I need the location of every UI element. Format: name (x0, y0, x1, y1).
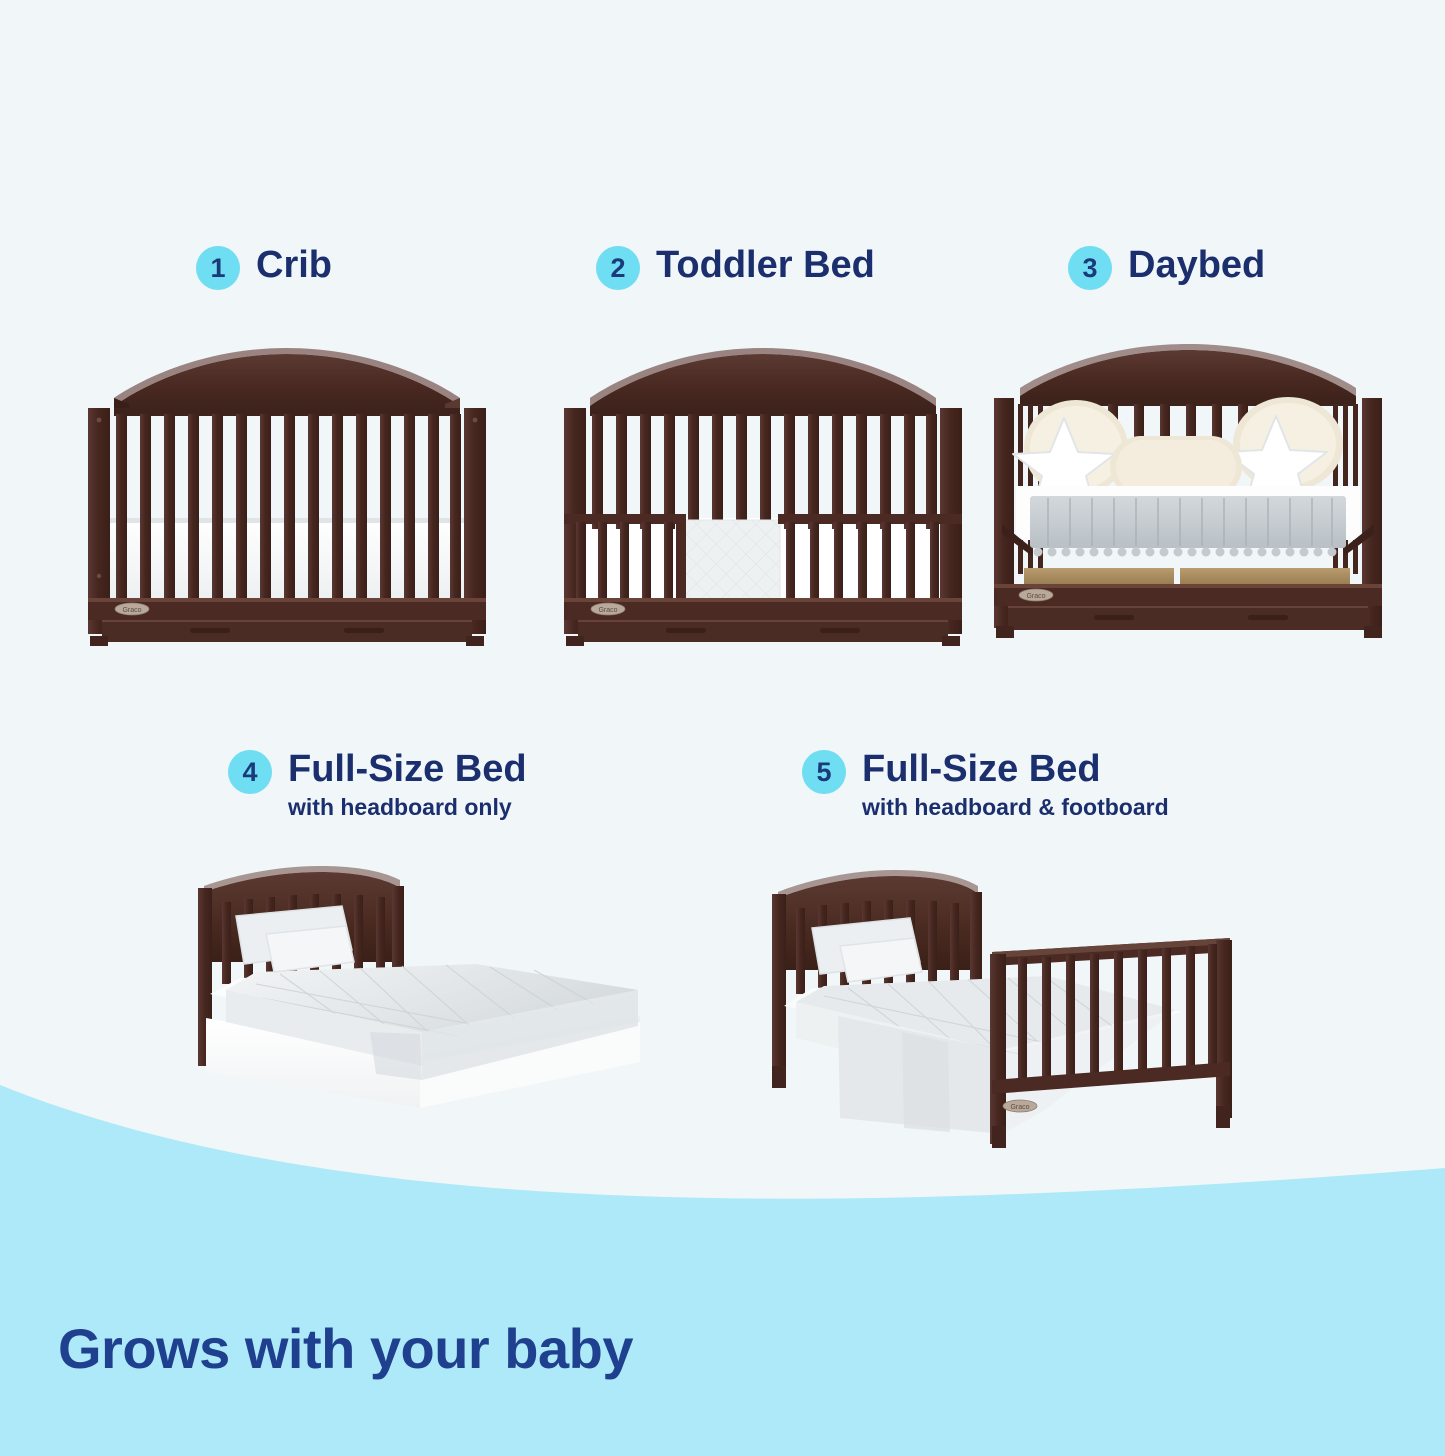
step-header-4: 4 Full-Size Bed with headboard only (228, 750, 527, 821)
step-title-1: Crib (256, 246, 332, 284)
brand-logo-text: Graco (598, 607, 617, 614)
step-header-3: 3 Daybed (1068, 246, 1265, 290)
art-full-bed-headboard (170, 866, 650, 1116)
step-header-1: 1 Crib (196, 246, 332, 290)
art-full-bed-headboard-footboard: Graco (752, 866, 1242, 1156)
step-badge-4: 4 (228, 750, 272, 794)
art-crib: Graco (72, 336, 502, 646)
brand-logo-text: Graco (122, 607, 141, 614)
footer-headline: Grows with your baby (58, 1316, 633, 1381)
pompom-trim (1034, 548, 1337, 557)
brand-logo-text: Graco (1010, 1104, 1029, 1111)
step-title-5: Full-Size Bed (862, 750, 1169, 788)
step-badge-2: 2 (596, 246, 640, 290)
step-title-2: Toddler Bed (656, 246, 875, 284)
art-daybed: Graco (988, 336, 1388, 646)
step-subtitle-4: with headboard only (288, 794, 527, 821)
infographic-page: Grows with your baby 1 Crib (0, 0, 1445, 1456)
step-subtitle-5: with headboard & footboard (862, 794, 1169, 821)
step-header-2: 2 Toddler Bed (596, 246, 875, 290)
brand-logo-text: Graco (1026, 593, 1045, 600)
step-badge-1: 1 (196, 246, 240, 290)
step-badge-3: 3 (1068, 246, 1112, 290)
art-toddler-bed: Graco (548, 336, 978, 646)
step-header-5: 5 Full-Size Bed with headboard & footboa… (802, 750, 1169, 821)
step-title-4: Full-Size Bed (288, 750, 527, 788)
step-badge-5: 5 (802, 750, 846, 794)
step-title-3: Daybed (1128, 246, 1265, 284)
